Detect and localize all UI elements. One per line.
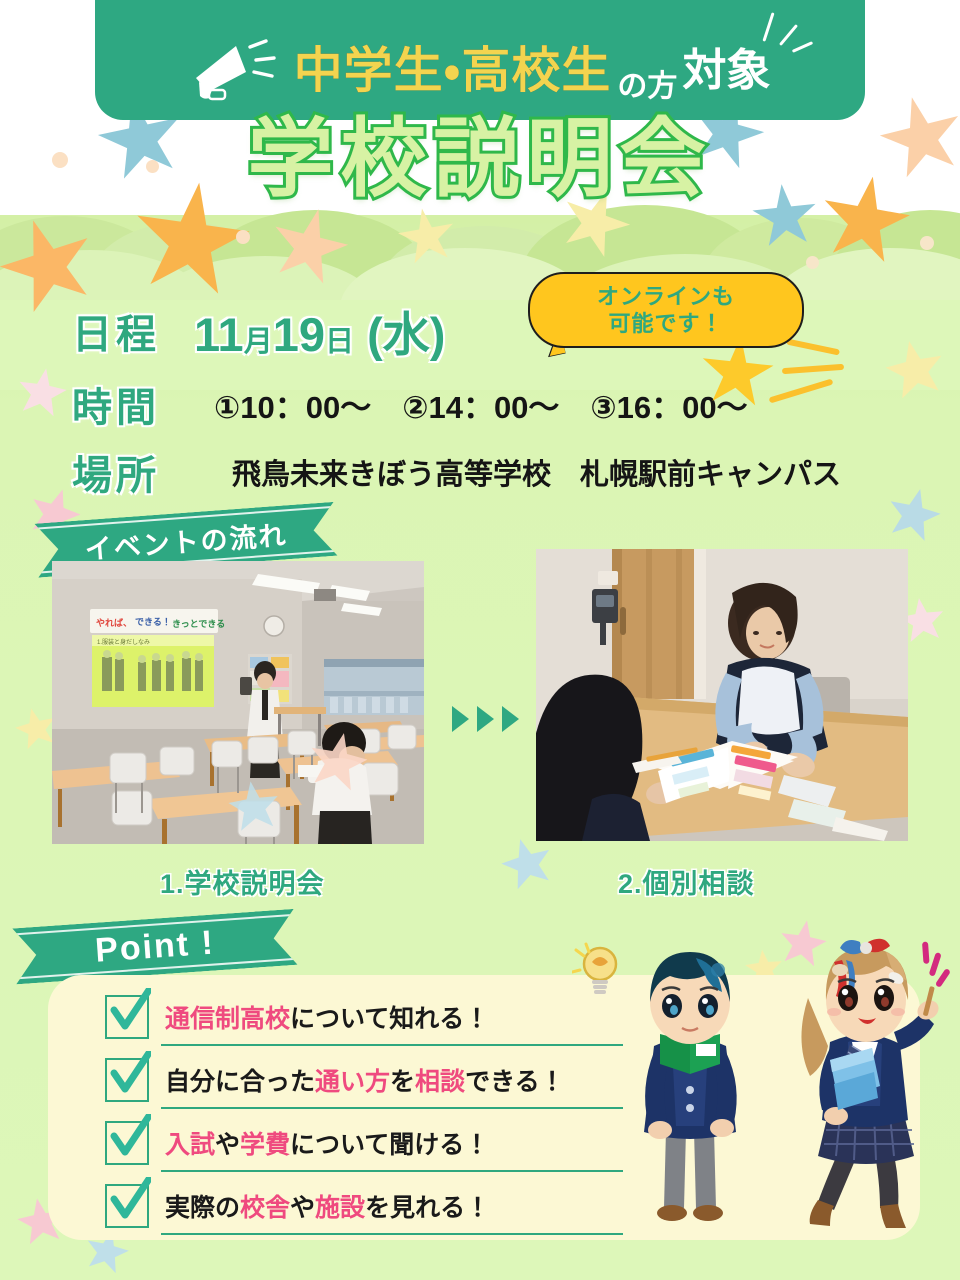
online-available-bubble: オンラインも 可能です！ (528, 272, 804, 348)
point-rest: を見れる！ (365, 1194, 490, 1222)
banner-target-highlight: 中学生・高校生 (294, 47, 612, 96)
point-mid: を (390, 1068, 415, 1096)
point-highlight-2: 相談 (415, 1068, 465, 1096)
point-text: 通信制高校について知れる！ (165, 999, 489, 1035)
individual-consultation-photo (536, 549, 908, 841)
megaphone-icon (190, 38, 286, 104)
date-month-number: 11 (194, 308, 244, 361)
point-highlight-2: 施設 (315, 1194, 365, 1222)
page-title: 学校説明会 (0, 116, 960, 202)
point-mid: や (215, 1131, 240, 1159)
date-month-unit: 月 (244, 326, 273, 358)
point-list-item: 通信制高校について知れる！ (105, 985, 625, 1048)
info-label-time: 時間 (72, 375, 194, 433)
info-value-time: ①10：00〜 ②14：00〜 ③16：00〜 (194, 382, 748, 427)
point-highlight: 入試 (165, 1131, 215, 1159)
step-2-caption: 2.個別相談 (618, 862, 755, 901)
bubble-line-2: 可能です！ (608, 310, 723, 338)
point-pre: 自分に合った (165, 1068, 315, 1096)
point-rest: について知れる！ (290, 1005, 489, 1033)
point-underline (161, 1233, 623, 1236)
point-highlight: 校舎 (240, 1194, 290, 1222)
step-1-caption: 1.学校説明会 (160, 862, 325, 901)
date-weekday: (水) (367, 308, 445, 361)
svg-text:1.服装と身だしなみ: 1.服装と身だしなみ (97, 638, 150, 646)
svg-text:きっとできる: きっとできる (172, 619, 225, 629)
point-pre: 実際の (165, 1194, 240, 1222)
point-text: 自分に合った通い方を相談できる！ (165, 1062, 565, 1098)
bubble-line-1: オンラインも (597, 283, 735, 311)
point-underline (161, 1170, 623, 1173)
point-text: 実際の校舎や施設を見れる！ (165, 1188, 490, 1224)
date-day-unit: 日 (325, 326, 354, 358)
point-rest: について聞ける！ (290, 1131, 489, 1159)
date-day-number: 19 (273, 308, 325, 361)
point-ribbon-label: Point ! (94, 923, 216, 970)
point-text: 入試や学費について聞ける！ (165, 1125, 489, 1161)
banner-target-mid: の方 (613, 72, 680, 102)
info-row-time: 時間 ①10：00〜 ②14：00〜 ③16：00〜 (72, 375, 932, 433)
point-list: 通信制高校について知れる！ 自分に合った通い方を相談できる！ 入試や学費について… (105, 985, 625, 1237)
point-highlight: 通信制高校 (165, 1005, 290, 1033)
event-info: 日程 11月19日 (水) 時間 ①10：00〜 ②14：00〜 ③16：00〜… (72, 296, 932, 511)
point-underline (161, 1044, 623, 1047)
point-underline (161, 1107, 623, 1110)
point-highlight-2: 学費 (240, 1131, 290, 1159)
point-mid: や (290, 1194, 315, 1222)
boy-student-character (610, 940, 770, 1235)
checkbox-checked-icon (105, 1184, 149, 1228)
point-list-item: 入試や学費について聞ける！ (105, 1111, 625, 1174)
info-value-place: 飛鳥未来きぼう高等学校 札幌駅前キャンパス (194, 451, 841, 493)
info-label-place: 場所 (72, 443, 194, 501)
top-banner: 中学生・高校生 の方 対象 (95, 0, 865, 120)
info-row-place: 場所 飛鳥未来きぼう高等学校 札幌駅前キャンパス (72, 443, 932, 501)
svg-text:やれば、: やれば、 (96, 617, 132, 628)
info-label-date: 日程 (72, 302, 194, 360)
svg-text:できる！: できる！ (135, 617, 171, 627)
poster-root: 中学生・高校生 の方 対象 学校説明会 学校説明会 日程 11月19日 (水) … (0, 0, 960, 1280)
checkbox-checked-icon (105, 1058, 149, 1102)
point-list-item: 自分に合った通い方を相談できる！ (105, 1048, 625, 1111)
banner-target-end: 対象 (682, 49, 770, 93)
checkbox-checked-icon (105, 995, 149, 1039)
point-rest: できる！ (465, 1068, 565, 1096)
checkbox-checked-icon (105, 1121, 149, 1165)
info-value-date: 11月19日 (水) (194, 296, 445, 365)
point-highlight: 通い方 (315, 1068, 390, 1096)
girl-student-character (782, 934, 952, 1239)
point-list-item: 実際の校舎や施設を見れる！ (105, 1174, 625, 1237)
classroom-presentation-photo: やれば、 できる！ きっとできる 1.服装と身だしなみ (52, 561, 424, 844)
